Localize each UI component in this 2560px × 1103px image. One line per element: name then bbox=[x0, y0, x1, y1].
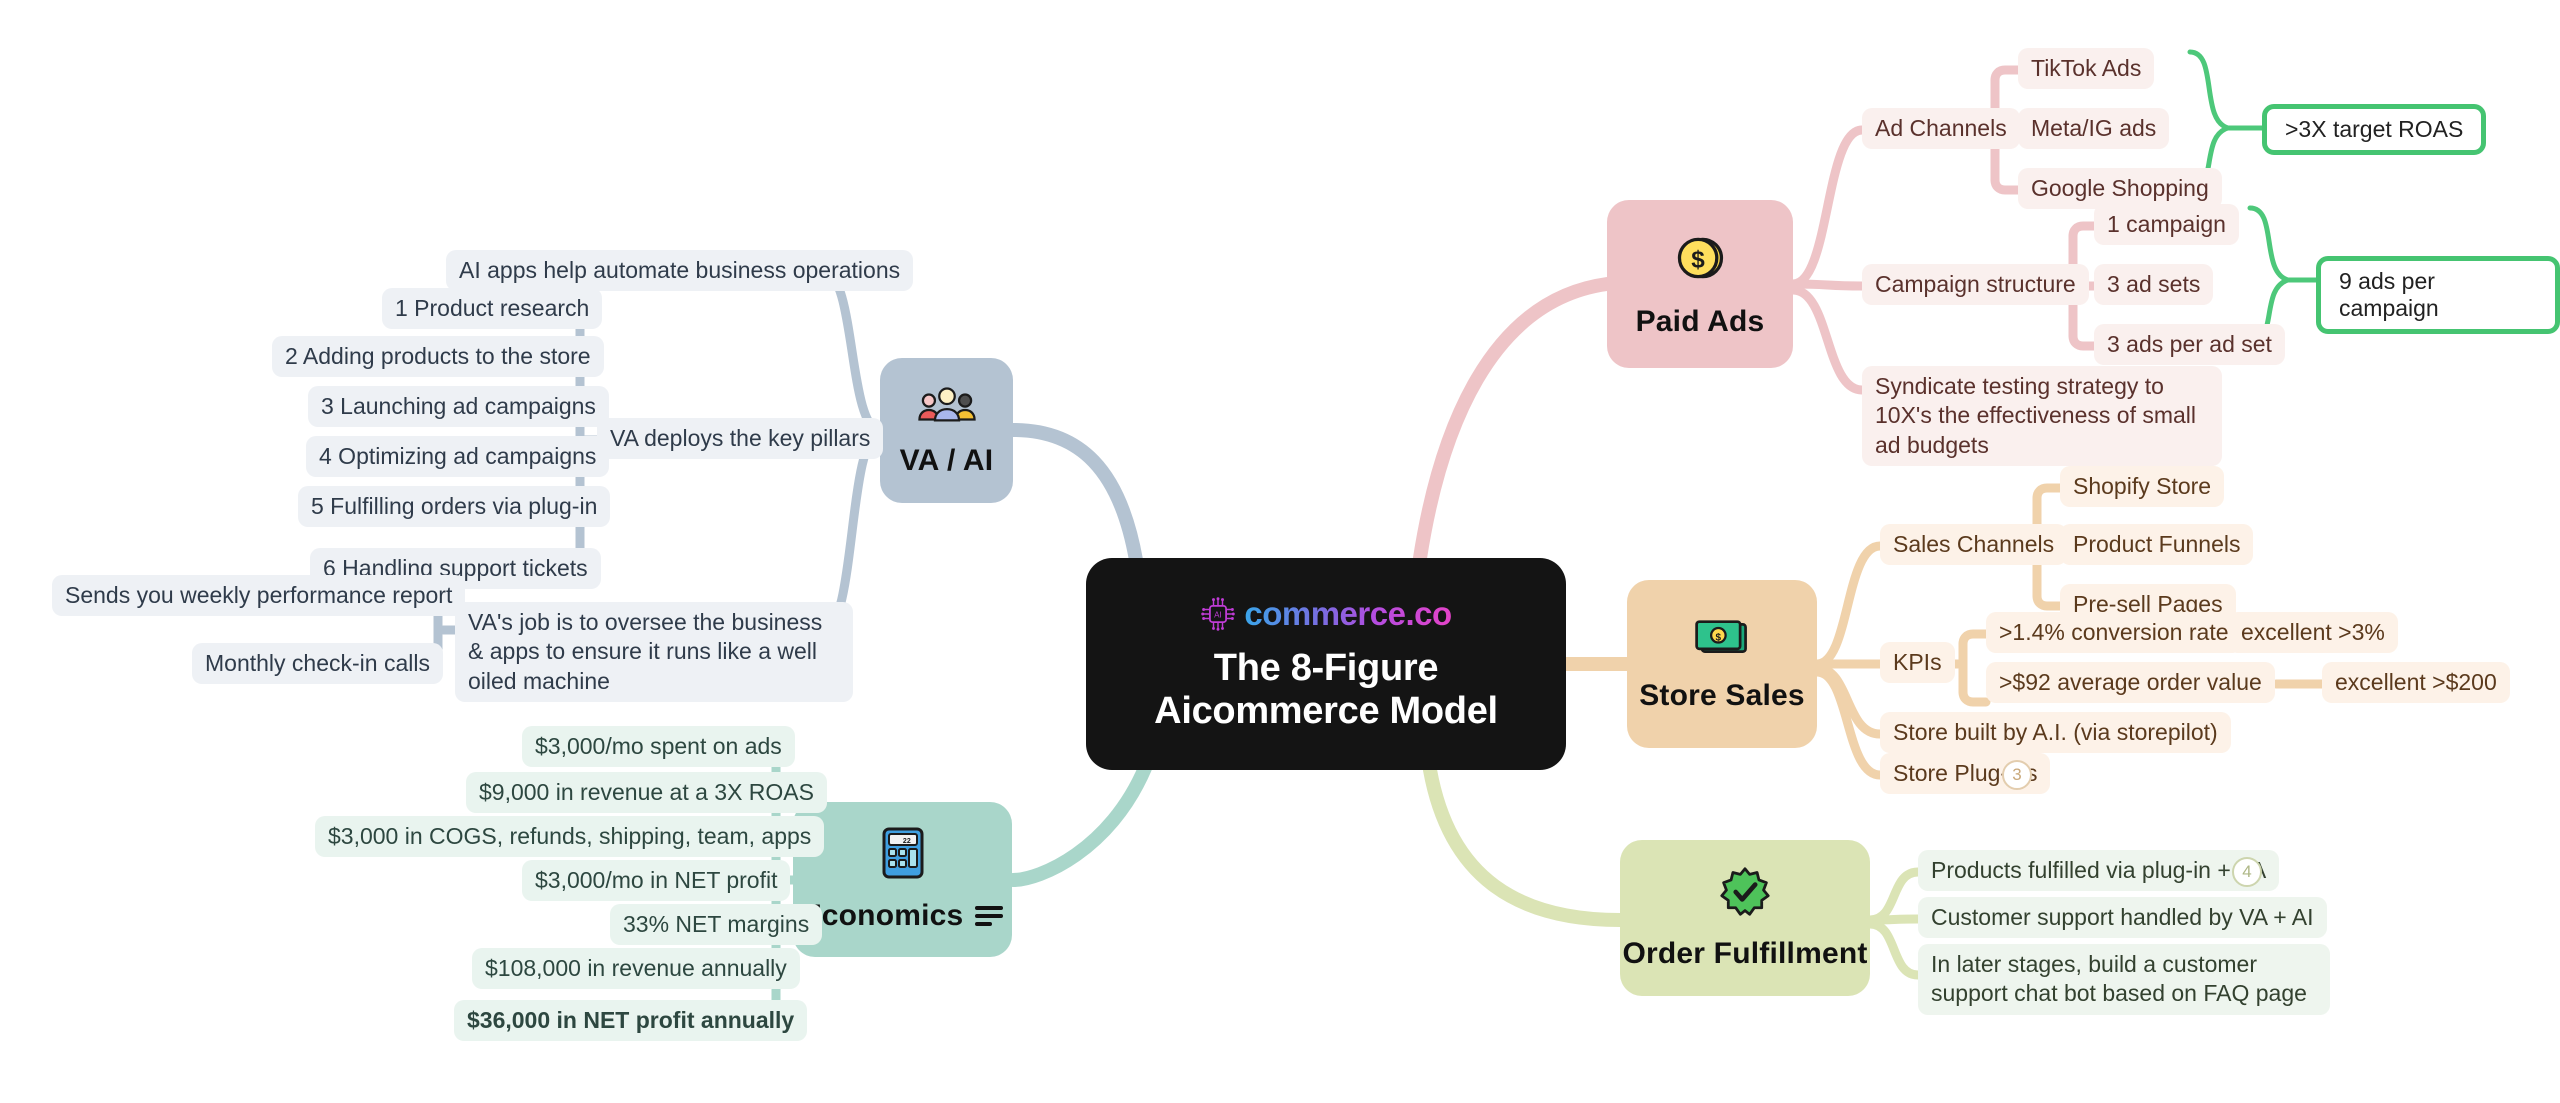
branch-root-economics[interactable]: 22 Economics bbox=[793, 802, 1012, 957]
node-econ-net-profit-annual[interactable]: $36,000 in NET profit annually bbox=[454, 1000, 807, 1041]
branch-root-label: Economics bbox=[802, 899, 964, 933]
node-econ-net-profit-mo[interactable]: $3,000/mo in NET profit bbox=[522, 860, 790, 901]
node-chat-bot-later-stages[interactable]: In later stages, build a customer suppor… bbox=[1918, 944, 2330, 1015]
brand-name: commerce.co bbox=[1244, 595, 1451, 633]
node-label: Campaign structure bbox=[1875, 270, 2076, 299]
node-label: 1 campaign bbox=[2107, 210, 2226, 239]
node-kpi-average-order-value[interactable]: >$92 average order value bbox=[1986, 662, 2275, 703]
hub-title-line2: Aicommerce Model bbox=[1154, 690, 1498, 733]
store-plugins-count-badge[interactable]: 3 bbox=[2002, 760, 2032, 790]
svg-text:$: $ bbox=[1691, 246, 1705, 273]
node-label: Customer support handled by VA + AI bbox=[1931, 903, 2314, 932]
node-pillar-5[interactable]: 5 Fulfilling orders via plug-in bbox=[298, 486, 610, 527]
mindmap-canvas: AI commerce.co The 8-Figure Aicommerce M… bbox=[0, 0, 2560, 1103]
products-fulfilled-count-badge[interactable]: 4 bbox=[2232, 857, 2262, 887]
node-label: Store built by A.I. (via storepilot) bbox=[1893, 718, 2218, 747]
node-store-built-by-ai[interactable]: Store built by A.I. (via storepilot) bbox=[1880, 712, 2231, 753]
highlight-target-roas[interactable]: >3X target ROAS bbox=[2262, 104, 2486, 155]
node-label: excellent >3% bbox=[2241, 618, 2385, 647]
node-label: excellent >$200 bbox=[2335, 668, 2497, 697]
branch-root-paid-ads[interactable]: $ Paid Ads bbox=[1607, 200, 1793, 368]
node-label: >$92 average order value bbox=[1999, 668, 2262, 697]
node-label: $3,000/mo spent on ads bbox=[535, 732, 782, 761]
node-pillar-1[interactable]: 1 Product research bbox=[382, 288, 602, 329]
branch-root-store-sales[interactable]: $ Store Sales bbox=[1627, 580, 1817, 748]
node-pillar-3[interactable]: 3 Launching ad campaigns bbox=[308, 386, 609, 427]
node-label: >1.4% conversion rate bbox=[1999, 618, 2229, 647]
node-product-funnels[interactable]: Product Funnels bbox=[2060, 524, 2253, 565]
node-3-ads-per-ad-set[interactable]: 3 ads per ad set bbox=[2094, 324, 2285, 365]
node-label: 3 ads per ad set bbox=[2107, 330, 2272, 359]
calculator-icon: 22 bbox=[881, 826, 925, 887]
node-label: VA's job is to oversee the business & ap… bbox=[468, 608, 840, 696]
node-label: AI apps help automate business operation… bbox=[459, 256, 900, 285]
ai-chip-icon: AI bbox=[1200, 596, 1236, 632]
branch-root-label: Store Sales bbox=[1639, 679, 1805, 713]
node-ai-apps-automate[interactable]: AI apps help automate business operation… bbox=[446, 250, 913, 291]
node-label: $3,000/mo in NET profit bbox=[535, 866, 777, 895]
node-label: Google Shopping bbox=[2031, 174, 2209, 203]
node-va-deploys-key-pillars[interactable]: VA deploys the key pillars bbox=[597, 418, 883, 459]
node-label: Meta/IG ads bbox=[2031, 114, 2156, 143]
node-weekly-performance-report[interactable]: Sends you weekly performance report bbox=[52, 575, 465, 616]
economics-title-row: Economics bbox=[802, 899, 1004, 933]
node-syndicate-testing[interactable]: Syndicate testing strategy to 10X's the … bbox=[1862, 366, 2222, 466]
highlight-ads-per-campaign[interactable]: 9 ads per campaign bbox=[2316, 256, 2560, 334]
node-label: Product Funnels bbox=[2073, 530, 2240, 559]
central-hub[interactable]: AI commerce.co The 8-Figure Aicommerce M… bbox=[1086, 558, 1566, 770]
branch-root-order-fulfillment[interactable]: Order Fulfillment bbox=[1620, 840, 1870, 996]
node-label: Syndicate testing strategy to 10X's the … bbox=[1875, 372, 2209, 460]
coin-dollar-icon: $ bbox=[1672, 230, 1728, 293]
node-label: 2 Adding products to the store bbox=[285, 342, 591, 371]
node-tiktok-ads[interactable]: TikTok Ads bbox=[2018, 48, 2154, 89]
node-label: Shopify Store bbox=[2073, 472, 2211, 501]
money-banknote-icon: $ bbox=[1693, 616, 1751, 667]
node-customer-support-va-ai[interactable]: Customer support handled by VA + AI bbox=[1918, 897, 2327, 938]
branch-root-label: Paid Ads bbox=[1636, 305, 1765, 339]
node-meta-ig-ads[interactable]: Meta/IG ads bbox=[2018, 108, 2169, 149]
node-label: TikTok Ads bbox=[2031, 54, 2141, 83]
node-vas-job[interactable]: VA's job is to oversee the business & ap… bbox=[455, 602, 853, 702]
highlight-label: 9 ads per campaign bbox=[2339, 268, 2439, 321]
node-label: Products fulfilled via plug-in + VA bbox=[1931, 856, 2266, 885]
page-title: The 8-Figure Aicommerce Model bbox=[1154, 647, 1498, 732]
node-label: $108,000 in revenue annually bbox=[485, 954, 787, 983]
people-group-icon bbox=[916, 383, 978, 432]
node-econ-revenue-annual[interactable]: $108,000 in revenue annually bbox=[472, 948, 800, 989]
node-econ-net-margins[interactable]: 33% NET margins bbox=[610, 904, 822, 945]
branch-root-va-ai[interactable]: VA / AI bbox=[880, 358, 1013, 503]
node-ad-channels[interactable]: Ad Channels bbox=[1862, 108, 2020, 149]
node-econ-revenue-roas[interactable]: $9,000 in revenue at a 3X ROAS bbox=[466, 772, 827, 813]
node-kpi-average-order-value-note[interactable]: excellent >$200 bbox=[2322, 662, 2510, 703]
node-econ-ads-spend[interactable]: $3,000/mo spent on ads bbox=[522, 726, 795, 767]
branch-root-label: Order Fulfillment bbox=[1622, 937, 1867, 971]
node-pillar-2[interactable]: 2 Adding products to the store bbox=[272, 336, 604, 377]
node-label: $36,000 in NET profit annually bbox=[467, 1006, 794, 1035]
node-label: 4 Optimizing ad campaigns bbox=[319, 442, 596, 471]
node-3-ad-sets[interactable]: 3 ad sets bbox=[2094, 264, 2213, 305]
note-lines-icon[interactable] bbox=[975, 906, 1003, 926]
svg-text:22: 22 bbox=[902, 838, 910, 845]
node-label: $3,000 in COGS, refunds, shipping, team,… bbox=[328, 822, 811, 851]
badge-count: 3 bbox=[2012, 765, 2021, 785]
node-label: KPIs bbox=[1893, 648, 1942, 677]
node-label: 1 Product research bbox=[395, 294, 589, 323]
node-label: Sends you weekly performance report bbox=[65, 581, 452, 610]
node-label: Ad Channels bbox=[1875, 114, 2007, 143]
badge-count: 4 bbox=[2242, 862, 2251, 882]
hub-title-line1: The 8-Figure bbox=[1154, 647, 1498, 690]
node-sales-channels[interactable]: Sales Channels bbox=[1880, 524, 2067, 565]
brand-row: AI commerce.co bbox=[1200, 595, 1451, 633]
node-kpi-conversion-rate[interactable]: >1.4% conversion rate bbox=[1986, 612, 2242, 653]
svg-text:$: $ bbox=[1716, 632, 1722, 643]
node-label: Monthly check-in calls bbox=[205, 649, 430, 678]
node-pillar-4[interactable]: 4 Optimizing ad campaigns bbox=[306, 436, 609, 477]
node-1-campaign[interactable]: 1 campaign bbox=[2094, 204, 2239, 245]
green-check-badge-icon bbox=[1719, 866, 1771, 925]
node-econ-cogs[interactable]: $3,000 in COGS, refunds, shipping, team,… bbox=[315, 816, 824, 857]
node-label: Sales Channels bbox=[1893, 530, 2054, 559]
node-products-fulfilled[interactable]: Products fulfilled via plug-in + VA bbox=[1918, 850, 2279, 891]
node-label: VA deploys the key pillars bbox=[610, 424, 870, 453]
node-monthly-checkin-calls[interactable]: Monthly check-in calls bbox=[192, 643, 443, 684]
node-label: 3 ad sets bbox=[2107, 270, 2200, 299]
node-shopify-store[interactable]: Shopify Store bbox=[2060, 466, 2224, 507]
node-kpis[interactable]: KPIs bbox=[1880, 642, 1955, 683]
node-label: 3 Launching ad campaigns bbox=[321, 392, 596, 421]
branch-root-label: VA / AI bbox=[900, 444, 994, 478]
node-kpi-conversion-rate-note[interactable]: excellent >3% bbox=[2228, 612, 2398, 653]
svg-text:AI: AI bbox=[1215, 611, 1223, 620]
highlight-label: >3X target ROAS bbox=[2285, 116, 2463, 142]
node-campaign-structure[interactable]: Campaign structure bbox=[1862, 264, 2089, 305]
node-label: 5 Fulfilling orders via plug-in bbox=[311, 492, 597, 521]
node-label: 33% NET margins bbox=[623, 910, 809, 939]
node-label: $9,000 in revenue at a 3X ROAS bbox=[479, 778, 814, 807]
node-label: In later stages, build a customer suppor… bbox=[1931, 950, 2317, 1009]
